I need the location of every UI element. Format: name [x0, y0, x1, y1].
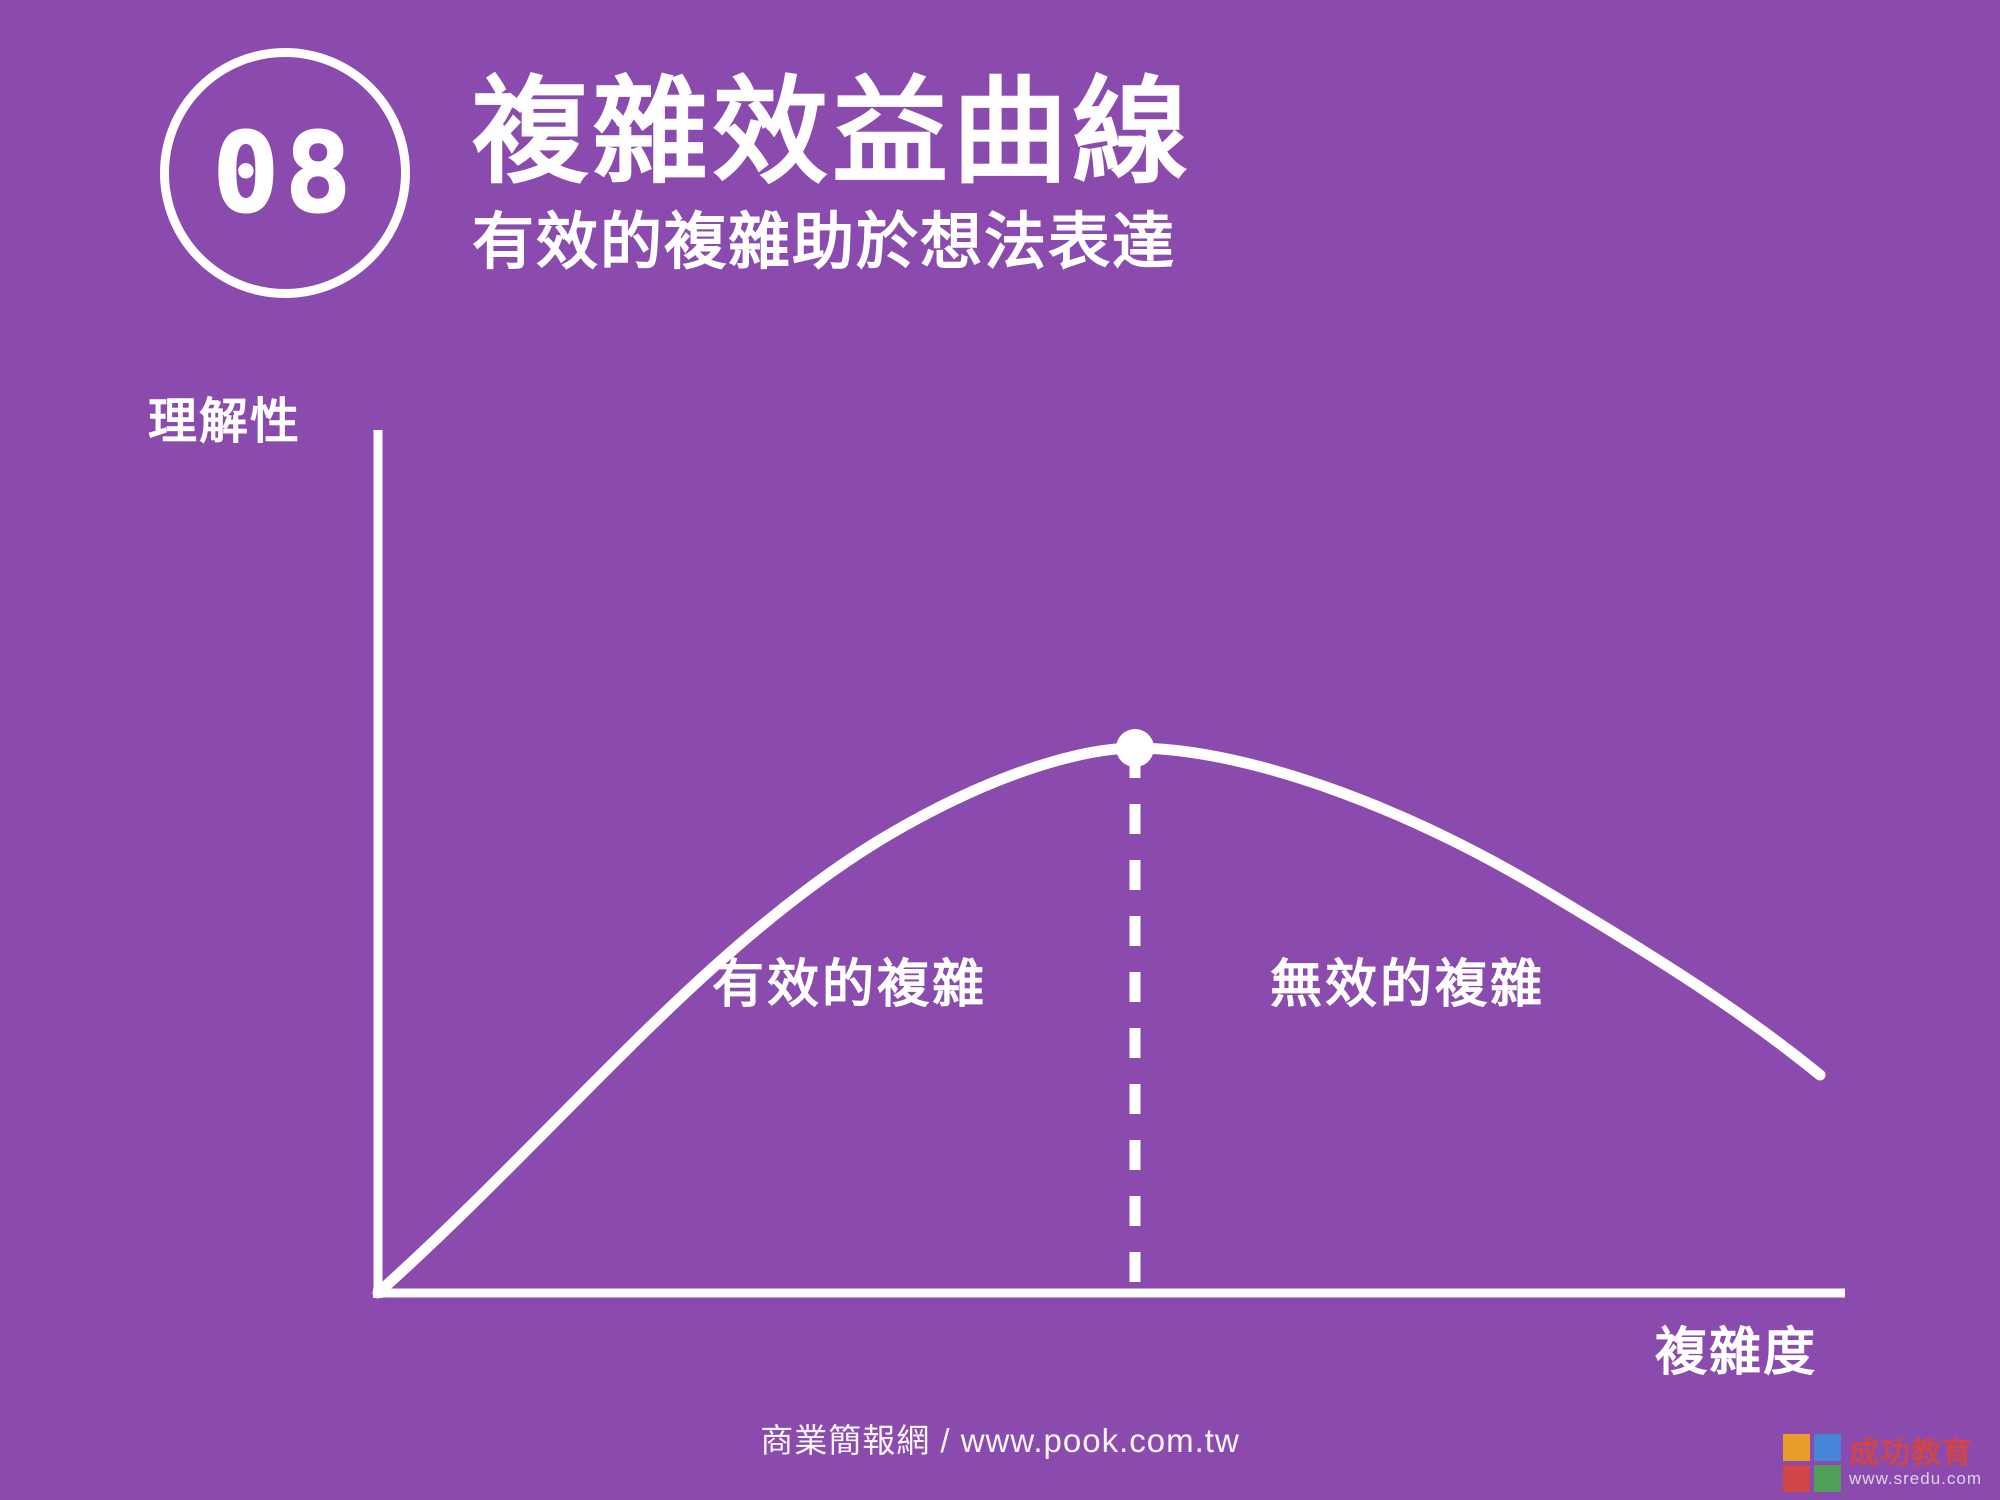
peak-point-marker	[1116, 729, 1154, 767]
slide-root: 08 複雜效益曲線 有效的複雜助於想法表達 理解性 複雜度 有效的複雜 無效的複…	[0, 0, 2000, 1500]
page-subtitle: 有效的複雜助於想法表達	[472, 209, 1192, 277]
zone-label-ineffective: 無效的複雜	[1270, 942, 1545, 1017]
slide-header: 08 複雜效益曲線 有效的複雜助於想法表達	[160, 40, 1192, 298]
chart-canvas	[0, 430, 2000, 1330]
watermark-subtitle: www.sredu.com	[1849, 1470, 1982, 1488]
title-block: 複雜效益曲線 有效的複雜助於想法表達	[472, 40, 1192, 277]
watermark-text: 成功教育 www.sredu.com	[1849, 1438, 1982, 1487]
watermark-logo-icon	[1783, 1434, 1841, 1492]
watermark-title: 成功教育	[1849, 1438, 1982, 1470]
understanding-curve	[378, 748, 1820, 1293]
watermark: 成功教育 www.sredu.com	[1783, 1434, 1982, 1492]
section-number-badge: 08	[160, 48, 410, 298]
footer-credit: 商業簡報網 / www.pook.com.tw	[0, 1414, 2000, 1462]
x-axis-label: 複雜度	[1655, 1310, 1817, 1385]
complexity-benefit-chart: 理解性 複雜度 有效的複雜 無效的複雜	[0, 430, 2000, 1300]
zone-label-effective: 有效的複雜	[712, 942, 987, 1017]
y-axis-label: 理解性	[148, 382, 301, 453]
page-title: 複雜效益曲線	[472, 70, 1192, 195]
section-number-label: 08	[213, 118, 357, 228]
